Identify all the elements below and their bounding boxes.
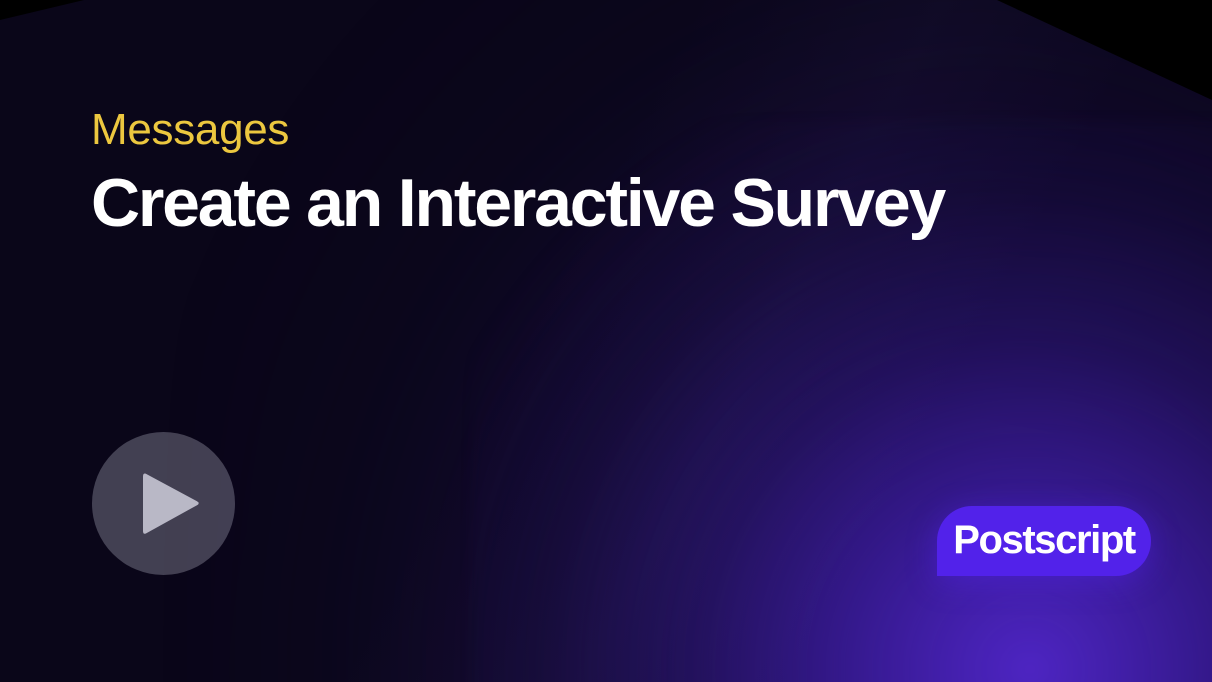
- postscript-wordmark: Postscript: [953, 520, 1135, 560]
- background-panel: [0, 0, 1212, 682]
- play-triangle-icon: [139, 471, 201, 537]
- postscript-logo-badge[interactable]: Postscript: [937, 506, 1151, 576]
- video-card: Messages Create an Interactive Survey Po…: [0, 0, 1212, 682]
- play-button[interactable]: [92, 432, 235, 575]
